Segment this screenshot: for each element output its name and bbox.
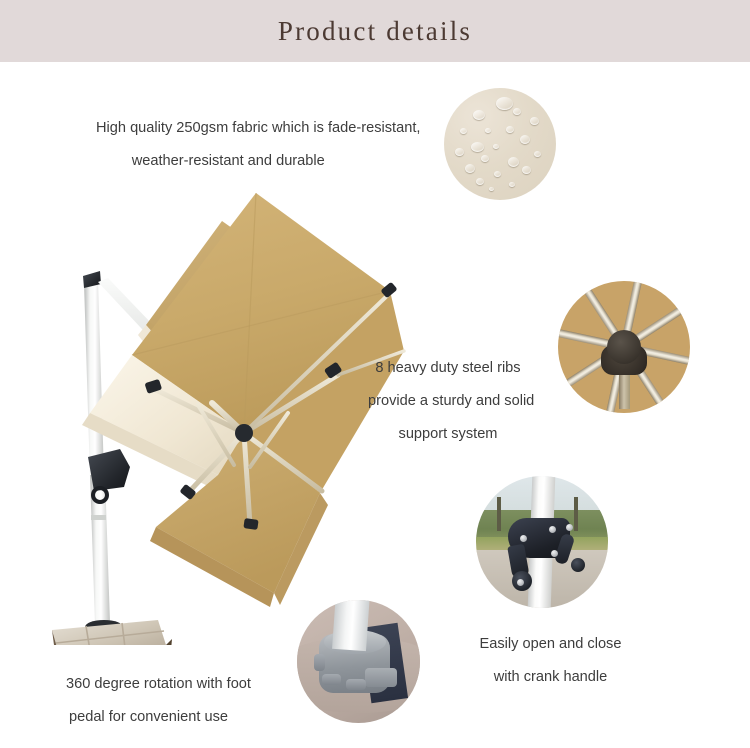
crank-screw [566, 524, 573, 531]
water-droplet [489, 187, 494, 191]
tree-trunk [497, 497, 501, 531]
caption-steel-ribs: 8 heavy duty steel ribs provide a sturdy… [368, 352, 528, 451]
crank-screw [517, 579, 524, 586]
detail-image-foot-pedal-base [297, 600, 420, 723]
water-droplet [471, 142, 484, 152]
caption-ribs-line-3: support system [368, 418, 528, 451]
page-title: Product details [0, 0, 750, 62]
rib-hub [607, 330, 641, 364]
caption-ribs-line-2: provide a sturdy and solid [368, 385, 528, 418]
caption-ribs-line-1: 8 heavy duty steel ribs [368, 352, 528, 385]
crank-screw [549, 526, 556, 533]
crank-arm-knob [571, 558, 585, 572]
tree-trunk [574, 497, 578, 531]
housing-lug [314, 654, 325, 671]
caption-fabric-line-1: High quality 250gsm fabric which is fade… [96, 112, 420, 145]
caption-crank-line-1: Easily open and close [473, 628, 628, 661]
caption-pedal-line-2: pedal for convenient use [66, 701, 251, 734]
crank-screw [520, 535, 527, 542]
water-droplet [534, 151, 541, 157]
housing-lug [346, 679, 366, 690]
caption-crank-handle: Easily open and close with crank handle [473, 628, 628, 694]
caption-pedal-line-1: 360 degree rotation with foot [66, 668, 251, 701]
housing-lug [322, 674, 342, 685]
water-droplet [496, 97, 513, 110]
detail-image-steel-rib-hub [558, 281, 690, 413]
detail-image-crank-handle [476, 476, 608, 608]
caption-fabric: High quality 250gsm fabric which is fade… [96, 112, 420, 178]
caption-fabric-line-2: weather-resistant and durable [96, 145, 420, 178]
umbrella-canopy-top [82, 193, 404, 607]
water-droplet [506, 126, 514, 133]
umbrella-pole [332, 600, 370, 650]
caption-foot-pedal: 360 degree rotation with foot pedal for … [66, 668, 251, 734]
detail-image-water-repellent-fabric [444, 88, 556, 200]
caption-crank-line-2: with crank handle [473, 661, 628, 694]
foot-pedal [365, 668, 397, 688]
